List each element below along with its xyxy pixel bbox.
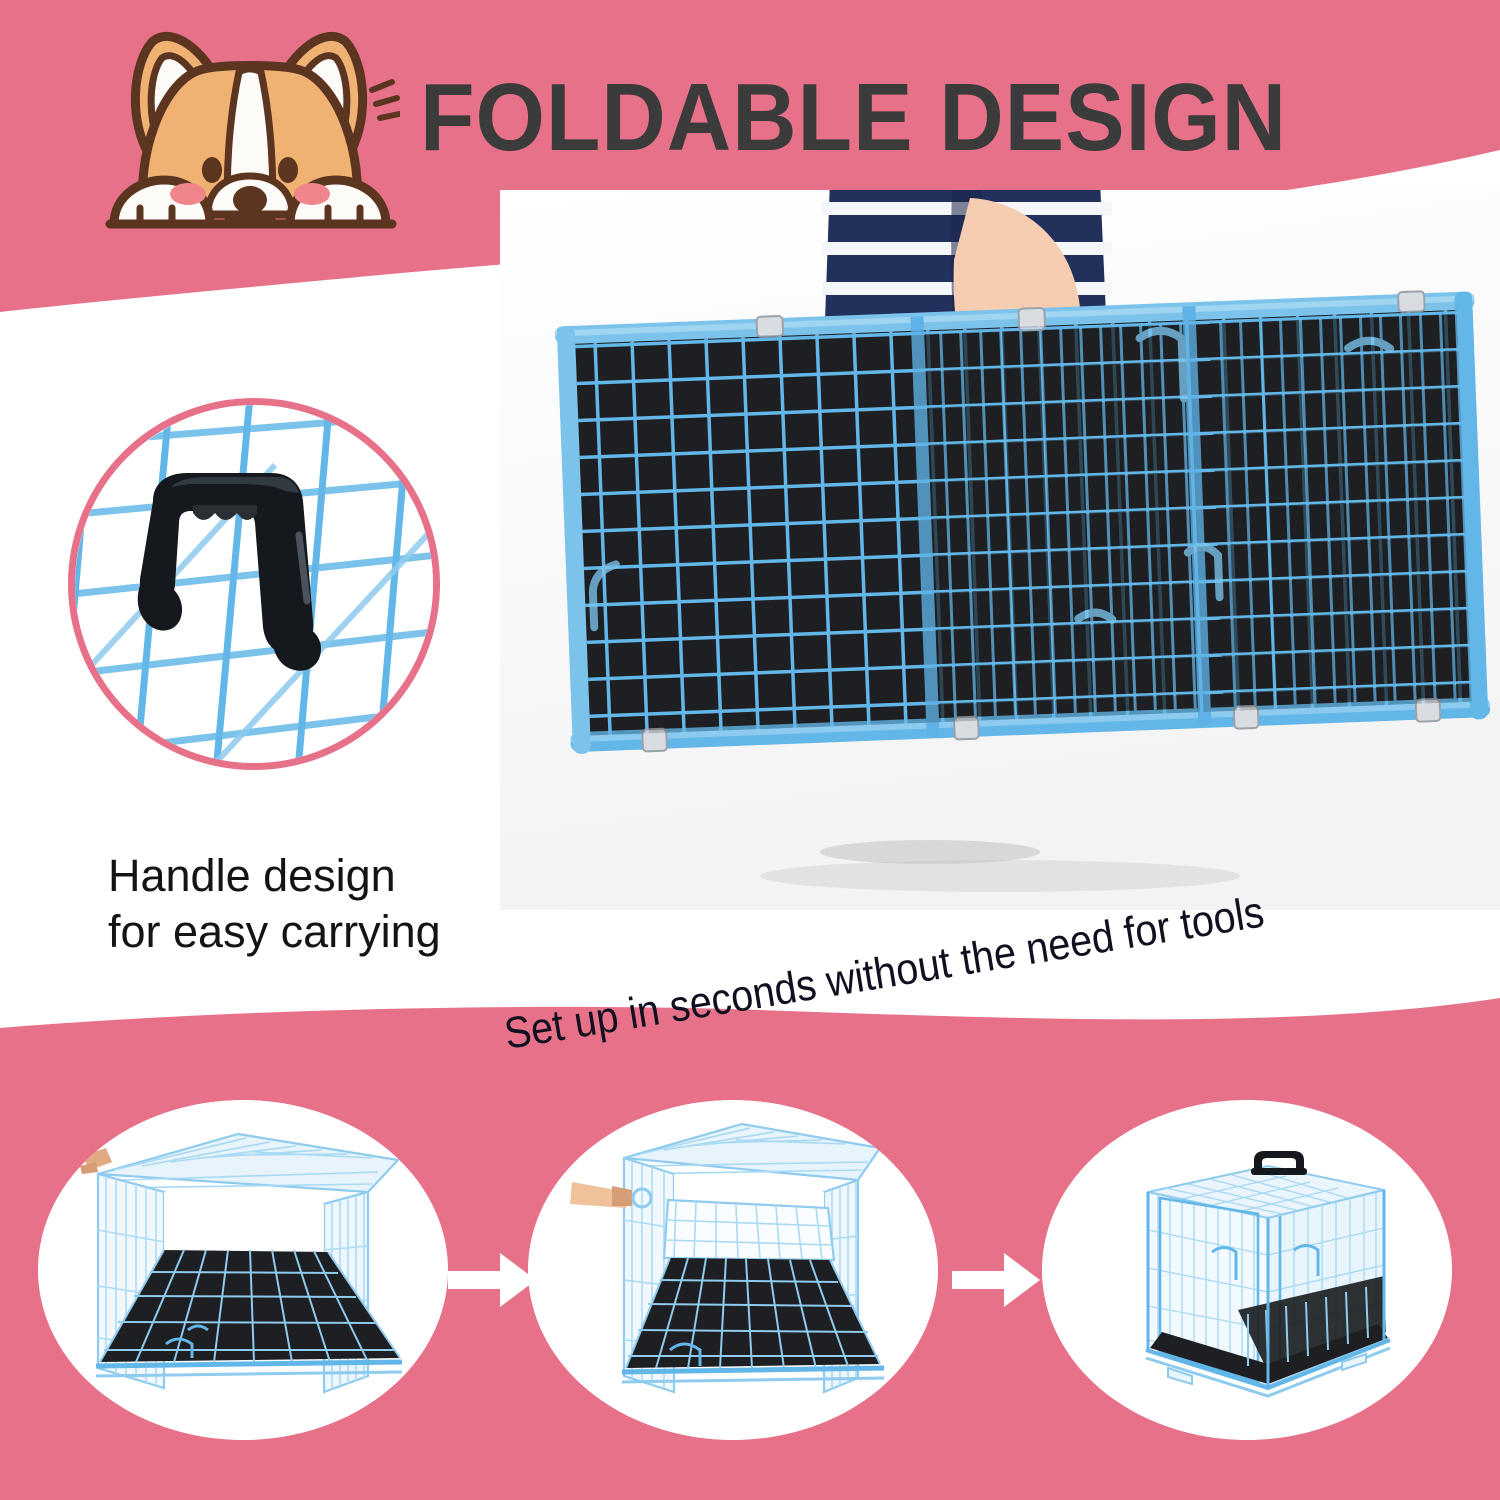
- step-crate-door-open: [528, 1100, 938, 1440]
- page-title: FOLDABLE DESIGN: [420, 58, 1360, 178]
- handle-caption: Handle design for easy carrying: [108, 848, 548, 961]
- marketing-infographic: FOLDABLE DESIGN: [0, 0, 1500, 1500]
- corgi-mascot-logo: [100, 28, 400, 240]
- handle-caption-line-2: for easy carrying: [108, 904, 548, 960]
- page-title-text: FOLDABLE DESIGN: [420, 63, 1287, 173]
- handle-closeup-inset: [68, 398, 440, 770]
- step-crate-assembled: [1042, 1100, 1452, 1440]
- handle-caption-line-1: Handle design: [108, 848, 548, 904]
- step-crate-unfolded: [38, 1100, 448, 1440]
- step-arrow-2: [952, 1245, 1042, 1315]
- folded-crate-carried-photo: [500, 190, 1500, 910]
- step-arrow-1: [448, 1245, 538, 1315]
